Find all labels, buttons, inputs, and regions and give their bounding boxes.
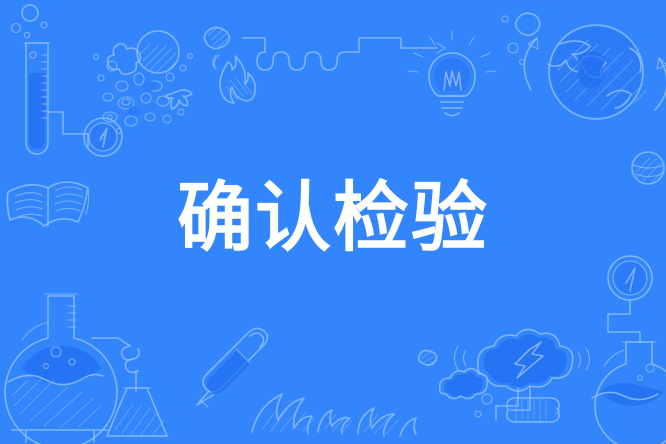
battery-icon: [507, 398, 559, 423]
bubbles-icon: [12, 5, 48, 38]
coil-wire-icon: [204, 27, 445, 70]
lightbulb-icon: [408, 31, 496, 116]
fountain-pen-icon: [197, 328, 268, 407]
page-title: 确认检验: [177, 180, 489, 256]
cloud-lightning-icon: [419, 329, 590, 420]
test-tube-icon: [24, 43, 88, 154]
globe-recycle-icon: [502, 13, 666, 119]
banner-image: 确认检验: [0, 0, 666, 444]
conical-flask-icon: [107, 388, 168, 436]
round-flask-icon: [5, 294, 139, 444]
gauge-icon: [84, 118, 122, 156]
microbes-icon: [94, 31, 193, 133]
gauge-flask-icon: [592, 256, 666, 444]
title-container: 确认检验: [0, 168, 666, 268]
flame-icon: [213, 55, 255, 103]
leaves-flames-icon: [252, 394, 416, 436]
